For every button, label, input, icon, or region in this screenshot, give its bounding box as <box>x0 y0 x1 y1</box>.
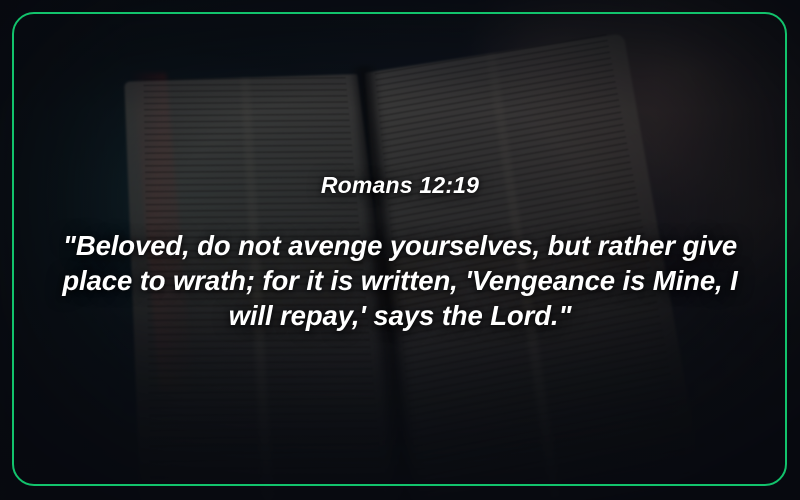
verse-content: Romans 12:19 "Beloved, do not avenge you… <box>50 172 750 334</box>
verse-reference: Romans 12:19 <box>50 172 750 199</box>
scripture-verse-card: Romans 12:19 "Beloved, do not avenge you… <box>0 0 800 500</box>
verse-text: "Beloved, do not avenge yourselves, but … <box>50 228 750 334</box>
